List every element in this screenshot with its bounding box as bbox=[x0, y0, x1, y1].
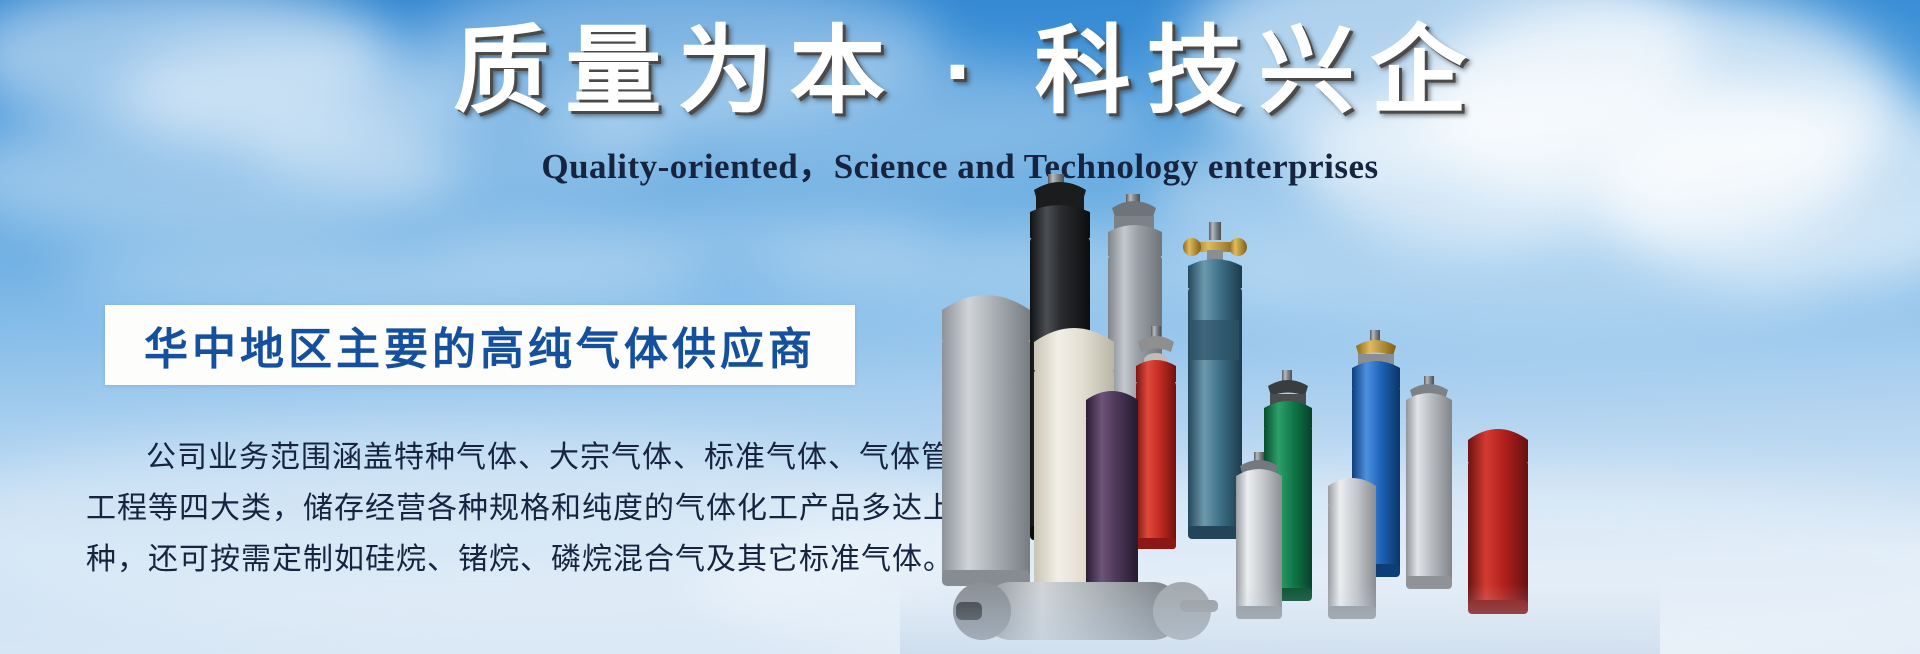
banner-headline: 质量为本 · 科技兴企 bbox=[0, 20, 1920, 124]
highlight-box: 华中地区主要的高纯气体供应商 bbox=[105, 305, 855, 385]
cylinders-svg bbox=[930, 150, 1630, 654]
cloud-shape bbox=[60, 240, 700, 310]
paragraph-line-1: 公司业务范围涵盖特种气体、大宗气体、标准气体、气体管道 bbox=[86, 432, 876, 483]
paragraph-line-3: 种，还可按需定制如硅烷、锗烷、磷烷混合气及其它标准气体。 bbox=[86, 534, 876, 585]
paragraph-line-2: 工程等四大类，储存经营各种规格和纯度的气体化工产品多达上百 bbox=[86, 483, 876, 534]
banner-paragraph: 公司业务范围涵盖特种气体、大宗气体、标准气体、气体管道 工程等四大类，储存经营各… bbox=[86, 432, 876, 585]
cloud-shape bbox=[420, 200, 940, 270]
ground-shadow-fade bbox=[900, 584, 1660, 654]
grey-wide-cylinder bbox=[942, 295, 1030, 586]
silver-cylinder bbox=[1406, 376, 1452, 589]
gas-cylinder-group-image bbox=[930, 150, 1630, 654]
promo-banner: 质量为本 · 科技兴企 Quality-oriented，Science and… bbox=[0, 0, 1920, 654]
highlight-box-text: 华中地区主要的高纯气体供应商 bbox=[144, 313, 816, 377]
purple-small-cylinder bbox=[1086, 391, 1138, 605]
